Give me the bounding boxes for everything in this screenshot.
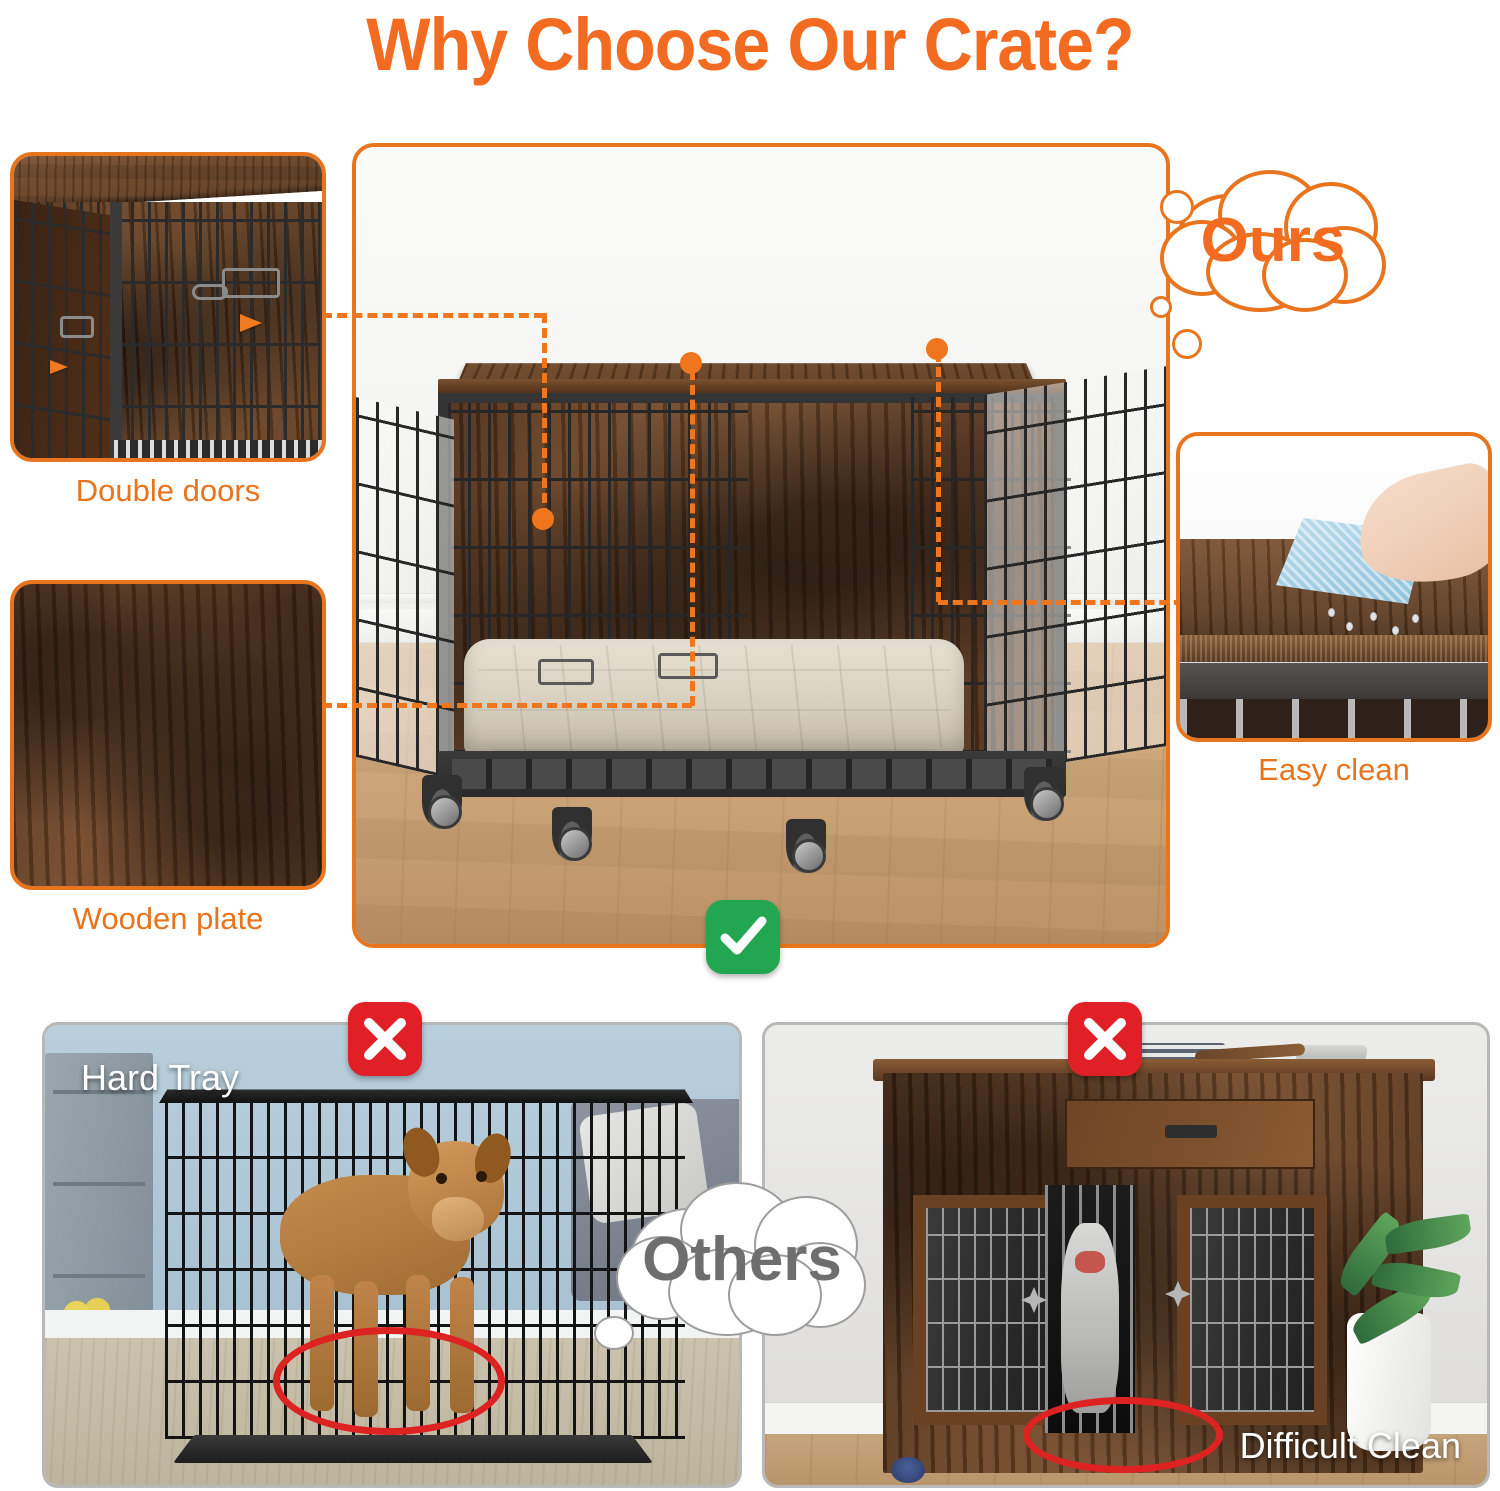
callout-dot-double-doors [532,508,554,530]
dog [1061,1223,1119,1413]
caption-double-doors: Double doors [10,473,326,509]
crate-corner-post [320,202,326,462]
callout-line-easy-clean-vertical [936,352,941,602]
crate-corner-post [110,202,122,462]
wire-mesh-horizontal [984,366,1169,775]
feature-card-wooden-plate[interactable] [10,580,326,890]
wire-mesh-horizontal [356,397,454,780]
crate-base-frame [438,751,1066,797]
door-latch-hook [658,653,718,679]
cross-icon [348,1002,422,1076]
problem-highlight-ellipse [1023,1397,1223,1473]
callout-dot-wooden-plate [680,352,702,374]
wooden-plate-texture [14,584,322,886]
ours-thought-bubble: Ours [1158,168,1388,313]
drawer-handle [1165,1125,1217,1138]
dog-snout [432,1197,484,1241]
callout-line-wooden-plate-vertical [690,370,695,706]
comparison-photo-difficult-clean[interactable]: Difficult Clean [762,1022,1490,1488]
latch-pointer-arrow-primary [240,314,262,332]
page-title: Why Choose Our Crate? [60,2,1440,88]
thought-bubble-dot-medium [1172,329,1202,359]
dog-eye [476,1171,487,1182]
cabinet-door-left [913,1195,1063,1425]
callout-line-wooden-plate-horizontal [322,703,692,708]
latch-pointer-arrow-secondary [50,360,68,374]
label-hard-tray: Hard Tray [81,1057,239,1099]
callout-line-easy-clean-horizontal [938,600,1184,605]
caster-wheel [786,819,826,873]
water-droplet [1392,626,1399,635]
caster-wheel [552,807,592,861]
crate-frame-rail [1180,663,1488,699]
water-droplet [1346,622,1353,631]
caster-wheel [422,775,462,829]
callout-line-double-doors-vertical [542,313,547,518]
water-droplet [1412,614,1419,623]
crate-top-panel [159,1090,693,1103]
crate-mesh-bars [1180,699,1488,738]
cabinet-door-right [1177,1195,1327,1425]
problem-highlight-ellipse [273,1327,505,1435]
feature-card-easy-clean[interactable] [1176,432,1492,742]
door-latch-front-lower [192,284,228,300]
crate-floor-grate [114,440,326,458]
caption-wooden-plate: Wooden plate [10,901,326,937]
callout-dot-easy-clean [926,338,948,360]
hard-plastic-tray [173,1435,653,1463]
door-latch-side [60,316,94,338]
wire-mesh-horizontal [926,1208,1050,1412]
door-latch-front [222,268,280,298]
check-icon [706,900,780,974]
water-droplet [1370,612,1377,621]
main-product-photo[interactable] [352,143,1170,948]
tabletop-front-edge [1180,635,1488,662]
double-doors-photo [14,156,322,458]
door-latch-hook [538,659,594,685]
others-thought-bubble: Others [616,1178,868,1340]
cross-icon [1068,1002,1142,1076]
water-droplet [1328,608,1335,617]
crate-right-open-door [984,366,1169,775]
others-label: Others [616,1178,868,1340]
callout-line-double-doors-horizontal [322,313,544,318]
crate-left-open-door [356,397,454,780]
dog-eye [436,1173,447,1184]
label-difficult-clean: Difficult Clean [1240,1425,1461,1467]
ours-label: Ours [1158,168,1388,313]
caster-wheel [1024,767,1064,821]
caption-easy-clean: Easy clean [1176,752,1492,788]
feature-card-double-doors[interactable] [10,152,326,462]
wire-mesh-horizontal [1190,1208,1314,1412]
caster-wheel [891,1457,925,1483]
